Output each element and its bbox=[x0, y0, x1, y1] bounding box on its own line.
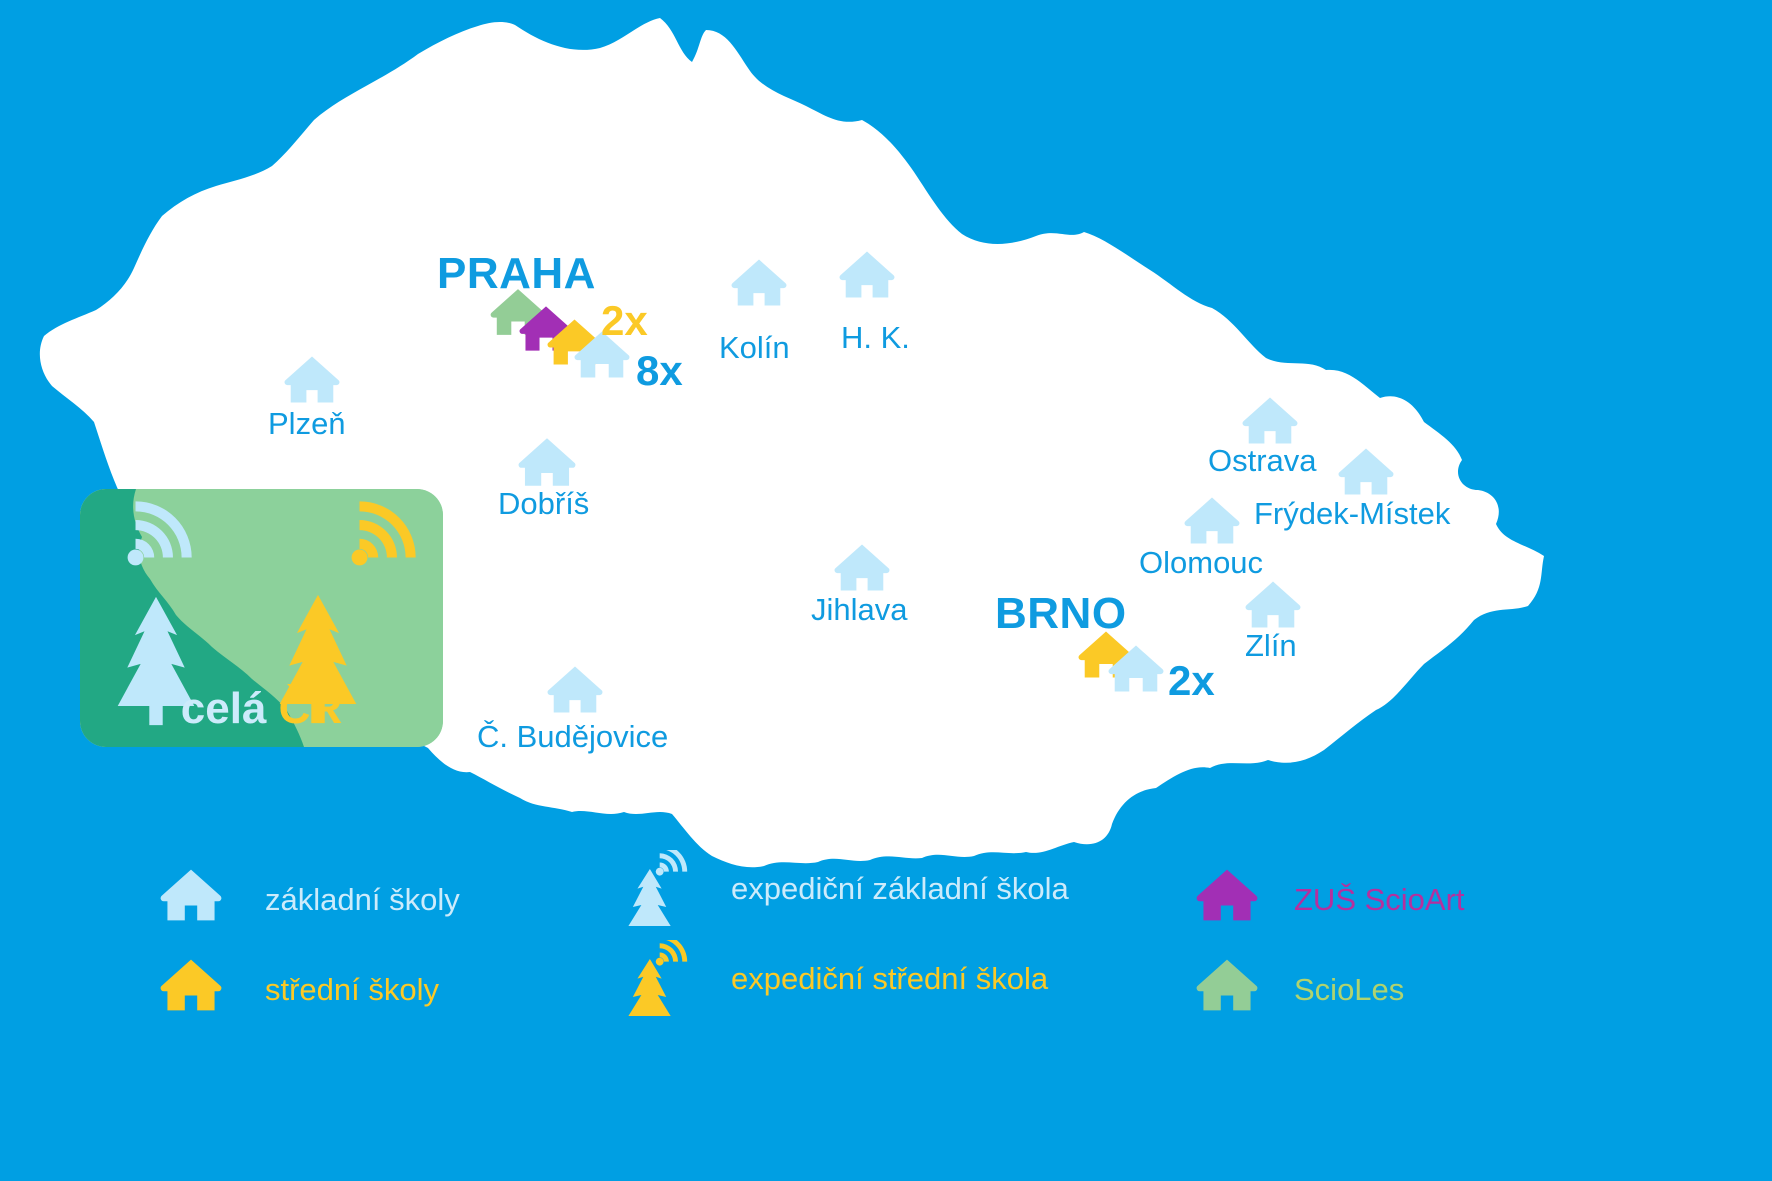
legend-item-expedition-basic: expediční základní škola bbox=[625, 850, 1069, 926]
legend-label-expedition-high: expediční střední škola bbox=[731, 963, 1048, 994]
legend-label-scioles: ScioLes bbox=[1294, 974, 1404, 1005]
legend-item-scioles: ScioLes bbox=[1196, 958, 1404, 1020]
house-icon bbox=[1196, 958, 1258, 1020]
legend-label-zus-scioart: ZUŠ ScioArt bbox=[1294, 884, 1465, 915]
tree-wifi-icon bbox=[625, 850, 697, 926]
house-icon bbox=[1196, 868, 1258, 930]
legend-item-zus-scioart: ZUŠ ScioArt bbox=[1196, 868, 1465, 930]
legend: základní školy střední školy bbox=[0, 0, 1772, 1181]
house-icon bbox=[160, 868, 222, 930]
legend-label-expedition-basic: expediční základní škola bbox=[731, 873, 1069, 904]
legend-label-basic-schools: základní školy bbox=[265, 884, 460, 915]
tree-wifi-icon bbox=[625, 940, 697, 1016]
legend-item-high-schools: střední školy bbox=[160, 958, 439, 1020]
legend-item-basic-schools: základní školy bbox=[160, 868, 460, 930]
legend-item-expedition-high: expediční střední škola bbox=[625, 940, 1048, 1016]
legend-label-high-schools: střední školy bbox=[265, 974, 439, 1005]
infographic-map: celá ČR PRAHA 2x 8x Kolín H. K. Plzeň Do… bbox=[0, 0, 1772, 1181]
house-icon bbox=[160, 958, 222, 1020]
